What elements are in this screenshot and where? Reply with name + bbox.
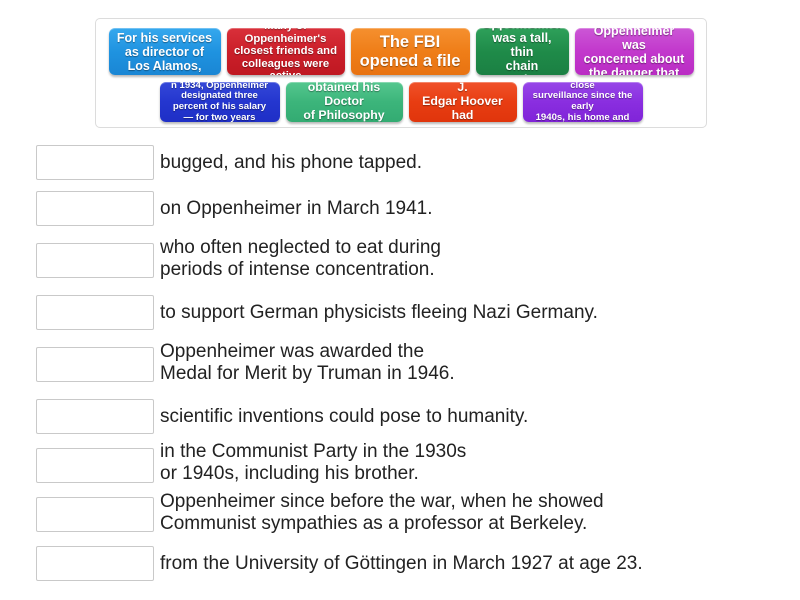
answer-text-5: Oppenheimer was awarded the Medal for Me… (160, 341, 790, 385)
drop-zone-3[interactable] (36, 243, 154, 278)
answer-text-3: who often neglected to eat during period… (160, 237, 790, 281)
tile-label: He had been under close surveillance sin… (529, 82, 637, 122)
tile-label: For his services as director of Los Alam… (117, 31, 212, 73)
answer-row: bugged, and his phone tapped. (0, 140, 800, 186)
drop-zone-6[interactable] (36, 399, 154, 434)
draggable-tile-5[interactable]: Oppenheimer was concerned about the dang… (575, 28, 694, 75)
answer-row: Oppenheimer since before the war, when h… (0, 490, 800, 540)
draggable-tile-1[interactable]: For his services as director of Los Alam… (109, 28, 221, 75)
answer-row: from the University of Göttingen in Marc… (0, 540, 800, 586)
draggable-tile-4[interactable]: Oppenheimer was a tall, thin chain smoke… (476, 28, 569, 75)
drop-zone-5[interactable] (36, 347, 154, 382)
drop-zone-8[interactable] (36, 497, 154, 532)
tile-row-2: n 1934, Oppenheimer designated three per… (96, 82, 706, 122)
draggable-tile-2[interactable]: Many of Oppenheimer's closest friends an… (227, 28, 345, 75)
answer-text-4: to support German physicists fleeing Naz… (160, 302, 790, 324)
answer-row: in the Communist Party in the 1930s or 1… (0, 440, 800, 490)
drop-zone-1[interactable] (36, 145, 154, 180)
tile-label: Oppenheimer was a tall, thin chain smoke… (482, 28, 563, 75)
tile-bank: For his services as director of Los Alam… (95, 18, 707, 128)
answer-text-2: on Oppenheimer in March 1941. (160, 198, 790, 220)
answer-row: Oppenheimer was awarded the Medal for Me… (0, 336, 800, 394)
tile-label: The FBI opened a file (360, 33, 461, 70)
answer-text-7: in the Communist Party in the 1930s or 1… (160, 441, 790, 485)
answer-list: bugged, and his phone tapped. on Oppenhe… (0, 140, 800, 586)
answer-row: to support German physicists fleeing Naz… (0, 290, 800, 336)
draggable-tile-8[interactable]: The FBI under J. Edgar Hoover had been f… (409, 82, 517, 122)
tile-row-1: For his services as director of Los Alam… (96, 28, 706, 75)
answer-text-9: from the University of Göttingen in Marc… (160, 553, 790, 575)
answer-text-6: scientific inventions could pose to huma… (160, 406, 790, 428)
answer-row: who often neglected to eat during period… (0, 232, 800, 290)
draggable-tile-9[interactable]: He had been under close surveillance sin… (523, 82, 643, 122)
drop-zone-7[interactable] (36, 448, 154, 483)
answer-text-1: bugged, and his phone tapped. (160, 152, 790, 174)
tile-label: Many of Oppenheimer's closest friends an… (233, 28, 339, 75)
answer-row: scientific inventions could pose to huma… (0, 394, 800, 440)
tile-label: Oppenheimer was concerned about the dang… (581, 28, 688, 75)
tile-label: The FBI under J. Edgar Hoover had been f… (415, 82, 511, 122)
drop-zone-4[interactable] (36, 295, 154, 330)
answer-text-8: Oppenheimer since before the war, when h… (160, 491, 790, 535)
tile-label: n 1934, Oppenheimer designated three per… (171, 82, 268, 122)
answer-row: on Oppenheimer in March 1941. (0, 186, 800, 232)
drop-zone-9[interactable] (36, 546, 154, 581)
tile-label: Oppenheimer obtained his Doctor of Philo… (292, 82, 397, 122)
draggable-tile-3[interactable]: The FBI opened a file (351, 28, 470, 75)
drop-zone-2[interactable] (36, 191, 154, 226)
draggable-tile-7[interactable]: Oppenheimer obtained his Doctor of Philo… (286, 82, 403, 122)
draggable-tile-6[interactable]: n 1934, Oppenheimer designated three per… (160, 82, 280, 122)
